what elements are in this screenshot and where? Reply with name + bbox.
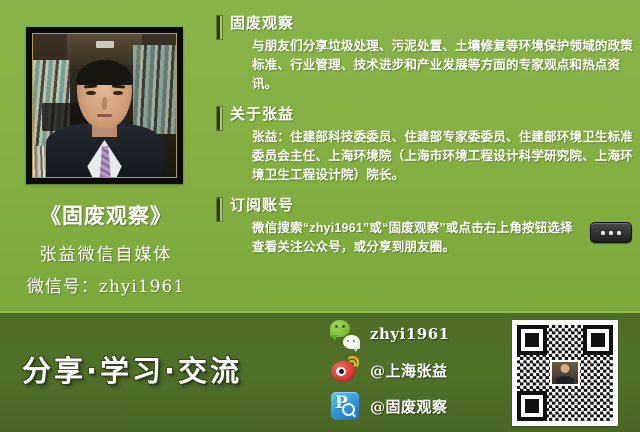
section-about-account: 固废观察 与朋友们分享垃圾处理、污泥处置、土壤修复等环境保护领域的政策标准、行业…	[216, 12, 634, 94]
left-column: 《固废观察》 张益微信自媒体 微信号：zhyi1961	[0, 0, 212, 313]
photo-lamp	[96, 41, 115, 48]
section-body: 张益：住建部科技委委员、住建部专家委委员、住建部环境卫生标准委员会主任、上海环境…	[252, 128, 634, 185]
photo-eye-left	[86, 91, 96, 95]
photo-eye-right	[113, 91, 123, 95]
more-options-button[interactable]	[590, 222, 632, 243]
qr-center-avatar	[550, 360, 580, 386]
section-body: 微信搜索“zhyi1961”或“固废观察”或点击右上角按钮选择查看关注公众号，或…	[252, 219, 634, 257]
weibo-icon	[330, 355, 360, 385]
search-icon: P	[330, 391, 360, 421]
qr-code[interactable]	[512, 320, 618, 426]
qr-finder-top-left	[517, 325, 547, 355]
photo-bookshelf-right	[133, 45, 176, 134]
portrait-photo	[33, 34, 176, 177]
brand-title: 《固废观察》	[0, 200, 212, 230]
section-marker-icon	[216, 15, 223, 40]
contact-row-weibo[interactable]: @上海张益	[330, 352, 505, 388]
section-body: 与朋友们分享垃圾处理、污泥处置、土壤修复等环境保护领域的政策标准、行业管理、技术…	[252, 37, 634, 94]
promo-card: 《固废观察》 张益微信自媒体 微信号：zhyi1961 固废观察 与朋友们分享垃…	[0, 0, 640, 432]
section-subscribe: 订阅账号 微信搜索“zhyi1961”或“固废观察”或点击右上角按钮选择查看关注…	[216, 194, 634, 257]
dot-icon	[601, 231, 605, 235]
contact-label: zhyi1961	[370, 325, 450, 343]
contact-row-wechat[interactable]: zhyi1961	[330, 316, 505, 352]
contact-row-search[interactable]: P @固废观察	[330, 388, 505, 424]
section-marker-icon	[216, 106, 223, 131]
dot-icon	[617, 231, 621, 235]
contact-label: @上海张益	[370, 360, 448, 381]
wechat-icon	[330, 319, 360, 349]
contact-label: @固废观察	[370, 396, 448, 417]
section-heading: 固废观察	[230, 12, 634, 33]
sections-column: 固废观察 与朋友们分享垃圾处理、污泥处置、土壤修复等环境保护领域的政策标准、行业…	[216, 12, 634, 266]
photo-nose	[102, 97, 108, 110]
qr-code-pattern	[517, 325, 613, 421]
brand-subtitle: 张益微信自媒体	[0, 240, 212, 265]
portrait-frame	[26, 27, 183, 184]
qr-finder-top-right	[583, 325, 613, 355]
photo-mouth	[97, 114, 111, 117]
section-about-author: 关于张益 张益：住建部科技委委员、住建部专家委委员、住建部环境卫生标准委员会主任…	[216, 103, 634, 185]
section-heading: 关于张益	[230, 103, 634, 124]
dot-icon	[609, 231, 613, 235]
brand-wechat-id: 微信号：zhyi1961	[0, 272, 212, 297]
section-marker-icon	[216, 197, 223, 222]
contact-list: zhyi1961 @上海张益 P @固废观察	[330, 316, 505, 424]
portrait-inner-border	[32, 33, 177, 178]
qr-finder-bottom-left	[517, 391, 547, 421]
slogan-text: 分享·学习·交流	[22, 348, 242, 390]
section-heading: 订阅账号	[230, 194, 634, 215]
